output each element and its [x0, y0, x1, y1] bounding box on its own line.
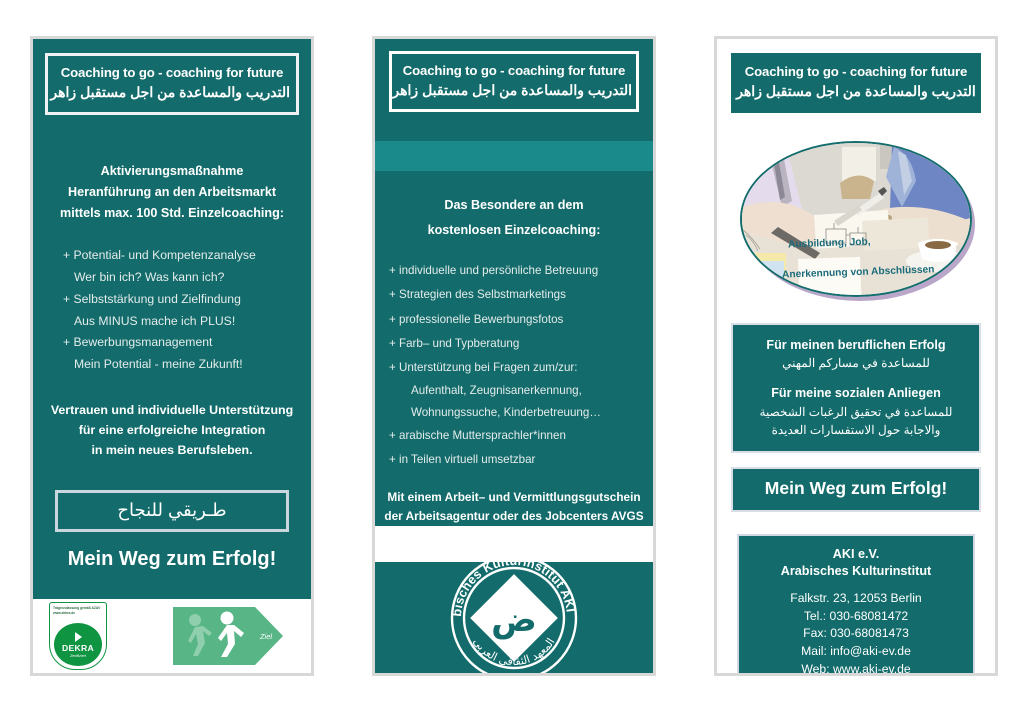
list-item: + in Teilen virtuell umsetzbar [389, 448, 653, 472]
panel-middle-feature-list: + individuelle und persönliche Betreuung… [389, 259, 653, 472]
promise-arabic: للمساعدة في مساركم المهني [741, 354, 971, 372]
org-name-line: AKI e.V. [745, 546, 967, 564]
org-name-line: Arabisches Kulturinstitut [745, 563, 967, 581]
arabic-slogan: طـريقي للنجاح [62, 500, 282, 521]
dekra-subtext: Zertifiziert [70, 654, 86, 658]
header-title-ar: التدريب والمساعدة من اجل مستقبل زاهر [735, 82, 977, 102]
header-title-box-left: Coaching to go - coaching for future الت… [45, 53, 299, 115]
goal-arrow-logo: Ziel [173, 607, 283, 665]
list-item: + Unterstützung bei Fragen zum/zur: [389, 356, 653, 380]
panel-middle-header-band: Coaching to go - coaching for future الت… [375, 39, 653, 141]
promise-arabic: للمساعدة في تحقيق الرغبات الشخصية [741, 403, 971, 421]
list-item: + Potential- und Kompetenzanalyse [63, 245, 311, 267]
contact-email[interactable]: Mail: info@aki-ev.de [745, 643, 967, 661]
contact-phone: Tel.: 030-68081472 [745, 608, 967, 626]
promise-heading: Für meine sozialen Anliegen [741, 384, 971, 402]
header-title-box-middle: Coaching to go - coaching for future الت… [389, 51, 639, 112]
panel-left-subtext: Vertrauen und individuelle Unterstützung… [33, 400, 311, 460]
arabic-slogan-box: طـريقي للنجاح [55, 490, 289, 532]
list-item: Wohnungssuche, Kinderbetreuung… [389, 402, 653, 424]
contact-details: Falkstr. 23, 12053 Berlin Tel.: 030-6808… [745, 590, 967, 676]
subtext-line: Vertrauen und individuelle Unterstützung [33, 400, 311, 420]
heading-line: Das Besondere an dem [375, 193, 653, 218]
subtext-line: für eine erfolgreiche Integration [33, 420, 311, 440]
seal-glyph: ض [491, 600, 537, 640]
header-title-en: Coaching to go - coaching for future [735, 64, 977, 81]
consultation-photo: Ausbildung, Job, Anerkennung von Abschlü… [740, 141, 972, 297]
dekra-certification-note: Trägerzulassung gemäß AZAV www.dekra.de [53, 606, 103, 616]
list-item: + professionelle Bewerbungsfotos [389, 308, 653, 332]
heading-line: Heranführung an den Arbeitsmarkt [33, 182, 311, 203]
contact-info-box: AKI e.V. Arabisches Kulturinstitut Falks… [737, 534, 975, 676]
promise-heading: Für meinen beruflichen Erfolg [741, 336, 971, 354]
list-item: + Bewerbungsmanagement [63, 332, 311, 354]
panel-left-slogan: Mein Weg zum Erfolg! [33, 548, 311, 571]
panel-right-slogan: Mein Weg zum Erfolg! [737, 478, 975, 499]
panel-middle-body: Das Besondere an dem kostenlosen Einzelc… [375, 171, 653, 526]
organization-name: AKI e.V. Arabisches Kulturinstitut [745, 546, 967, 582]
dekra-triangle-icon [75, 632, 82, 642]
panel-left-teal-body: Coaching to go - coaching for future الت… [33, 39, 311, 599]
heading-line: Aktivierungsmaßnahme [33, 161, 311, 182]
dekra-wordmark: DEKRA [62, 643, 94, 653]
promise-arabic: والاجابة حول الاستفسارات العديدة [741, 421, 971, 439]
panel-middle: Coaching to go - coaching for future الت… [372, 36, 656, 676]
aki-seal-logo: Arabisches Kulturinstitut AKI e.V. المعه… [445, 549, 583, 677]
panel-right-promise-box: Für meinen beruflichen Erfolg للمساعدة ف… [731, 323, 981, 453]
panel-left: Coaching to go - coaching for future الت… [30, 36, 314, 676]
list-item: Mein Potential - meine Zukunft! [63, 354, 311, 376]
list-item: + arabische Muttersprachler*innen [389, 424, 653, 448]
walking-figures-arrow-icon: Ziel [173, 607, 283, 665]
header-title-ar: التدريب والمساعدة من اجل مستقبل زاهر [396, 81, 632, 101]
list-item: Aus MINUS mache ich PLUS! [63, 311, 311, 333]
header-title-ar: التدريب والمساعدة من اجل مستقبل زاهر [54, 83, 290, 103]
contact-address: Falkstr. 23, 12053 Berlin [745, 590, 967, 608]
panel-middle-accent-band [375, 141, 653, 171]
list-item: Aufenthalt, Zeugnisanerkennung, [389, 380, 653, 402]
panel-middle-heading: Das Besondere an dem kostenlosen Einzelc… [375, 193, 653, 243]
panel-left-benefit-list: + Potential- und Kompetenzanalyse Wer bi… [63, 245, 311, 375]
header-title-en: Coaching to go - coaching for future [396, 63, 632, 80]
panel-middle-logo-block: Arabisches Kulturinstitut AKI e.V. المعه… [375, 562, 653, 673]
header-title-en: Coaching to go - coaching for future [54, 65, 290, 82]
panel-right: Coaching to go - coaching for future الت… [714, 36, 998, 676]
arrow-label: Ziel [259, 632, 272, 641]
divider [741, 372, 971, 384]
header-title-box-right: Coaching to go - coaching for future الت… [731, 53, 981, 113]
panel-right-slogan-box: Mein Weg zum Erfolg! [731, 467, 981, 512]
list-item: + Farb– und Typberatung [389, 332, 653, 356]
dekra-seal-logo: Trägerzulassung gemäß AZAV www.dekra.de … [49, 602, 107, 670]
list-item: Wer bin ich? Was kann ich? [63, 267, 311, 289]
footer-line: Mit einem Arbeit– und Vermittlungsgutsch… [375, 488, 653, 507]
list-item: + Strategien des Selbstmarketings [389, 283, 653, 307]
aki-circular-seal-icon: Arabisches Kulturinstitut AKI e.V. المعه… [445, 549, 583, 677]
footer-line: der Arbeitsagentur oder des Jobcenters A… [375, 507, 653, 526]
dekra-circle: DEKRA Zertifiziert [54, 623, 102, 666]
list-item: + individuelle und persönliche Betreuung [389, 259, 653, 283]
brochure-page: Coaching to go - coaching for future الت… [0, 0, 1024, 724]
panel-left-logo-strip: Trägerzulassung gemäß AZAV www.dekra.de … [33, 599, 311, 673]
panel-left-heading: Aktivierungsmaßnahme Heranführung an den… [33, 161, 311, 223]
contact-fax: Fax: 030-68081473 [745, 625, 967, 643]
heading-line: kostenlosen Einzelcoaching: [375, 218, 653, 243]
subtext-line: in mein neues Berufsleben. [33, 440, 311, 460]
heading-line: mittels max. 100 Std. Einzelcoaching: [33, 203, 311, 224]
list-item: + Selbststärkung und Zielfindung [63, 289, 311, 311]
contact-website[interactable]: Web: www.aki-ev.de [745, 661, 967, 676]
